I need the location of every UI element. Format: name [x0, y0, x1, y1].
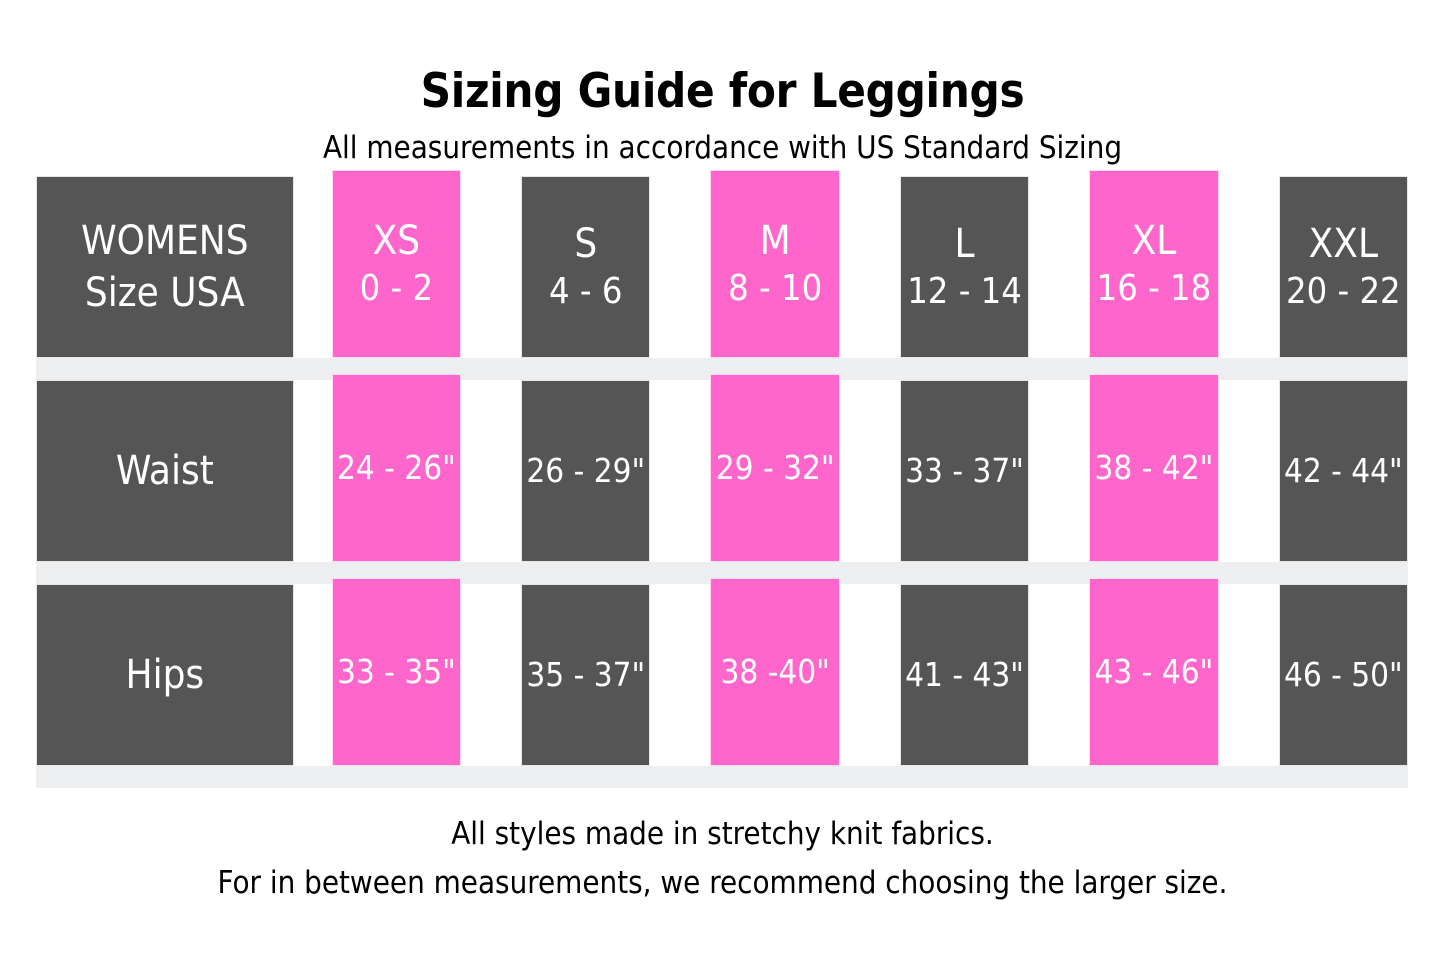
measurement-cell-hips-xxl: 46 - 50" [1279, 584, 1408, 766]
header-label-line2: Size USA [85, 267, 245, 319]
measurement-cell-hips-xl: 43 - 46" [1089, 578, 1218, 766]
row-label: Hips [126, 649, 205, 701]
measurement-value: 29 - 32" [716, 446, 835, 490]
header-cell-size-xl: XL16 - 18 [1089, 170, 1218, 358]
size-usa-range: 0 - 2 [360, 266, 433, 312]
header-cell-size-m: M8 - 10 [710, 170, 839, 358]
measurement-cell-waist-l: 33 - 37" [900, 380, 1029, 562]
footer-line-2: For in between measurements, we recommen… [0, 859, 1445, 908]
size-usa-range: 20 - 22 [1286, 269, 1401, 315]
size-code: XS [373, 216, 421, 266]
measurement-value: 46 - 50" [1284, 653, 1403, 697]
size-usa-range: 16 - 18 [1097, 266, 1212, 312]
footer-notes: All styles made in stretchy knit fabrics… [0, 810, 1445, 908]
table-bottom-band [36, 766, 1408, 788]
measurement-cell-hips-l: 41 - 43" [900, 584, 1029, 766]
footer-line-1: All styles made in stretchy knit fabrics… [0, 810, 1445, 859]
size-code: M [760, 216, 791, 266]
header-cell-size-xs: XS0 - 2 [332, 170, 461, 358]
measurement-cell-waist-xl: 38 - 42" [1089, 374, 1218, 562]
table-header-row: WOMENS Size USA XS0 - 2S4 - 6M8 - 10L12 … [36, 176, 1408, 358]
measurement-cell-waist-m: 29 - 32" [710, 374, 839, 562]
measurement-value: 26 - 29" [526, 449, 645, 493]
size-usa-range: 4 - 6 [549, 269, 622, 315]
measurement-cell-hips-m: 38 -40" [710, 578, 839, 766]
measurement-cell-waist-xxl: 42 - 44" [1279, 380, 1408, 562]
measurement-value: 41 - 43" [905, 653, 1024, 697]
row-label: Waist [116, 445, 214, 497]
sizing-guide-page: Sizing Guide for Leggings All measuremen… [0, 0, 1445, 963]
measurement-cell-waist-s: 26 - 29" [521, 380, 650, 562]
size-usa-range: 12 - 14 [907, 269, 1022, 315]
measurement-cell-hips-s: 35 - 37" [521, 584, 650, 766]
page-subtitle: All measurements in accordance with US S… [0, 128, 1445, 168]
page-title: Sizing Guide for Leggings [0, 64, 1445, 120]
size-code: XXL [1309, 219, 1378, 269]
header-cell-size-l: L12 - 14 [900, 176, 1029, 358]
size-code: L [955, 219, 975, 269]
row-label-cell: Hips [36, 584, 294, 766]
measurement-value: 35 - 37" [526, 653, 645, 697]
measurement-value: 33 - 35" [337, 650, 456, 694]
size-code: S [574, 219, 597, 269]
measurement-value: 38 - 42" [1095, 446, 1214, 490]
table-row: Hips 33 - 35"35 - 37"38 -40"41 - 43"43 -… [36, 584, 1408, 766]
measurement-cell-hips-xs: 33 - 35" [332, 578, 461, 766]
table-row: Waist 24 - 26"26 - 29"29 - 32"33 - 37"38… [36, 380, 1408, 562]
sizing-table: WOMENS Size USA XS0 - 2S4 - 6M8 - 10L12 … [36, 176, 1408, 788]
header-cell-size-xxl: XXL20 - 22 [1279, 176, 1408, 358]
measurement-cell-waist-xs: 24 - 26" [332, 374, 461, 562]
measurement-value: 43 - 46" [1095, 650, 1214, 694]
row-label-cell: Waist [36, 380, 294, 562]
measurement-value: 42 - 44" [1284, 449, 1403, 493]
size-code: XL [1132, 216, 1177, 266]
header-cell-size-s: S4 - 6 [521, 176, 650, 358]
size-usa-range: 8 - 10 [728, 266, 822, 312]
measurement-value: 38 -40" [720, 650, 829, 694]
header-cell-row-label: WOMENS Size USA [36, 176, 294, 358]
measurement-value: 24 - 26" [337, 446, 456, 490]
measurement-value: 33 - 37" [905, 449, 1024, 493]
header-label-line1: WOMENS [81, 215, 248, 267]
